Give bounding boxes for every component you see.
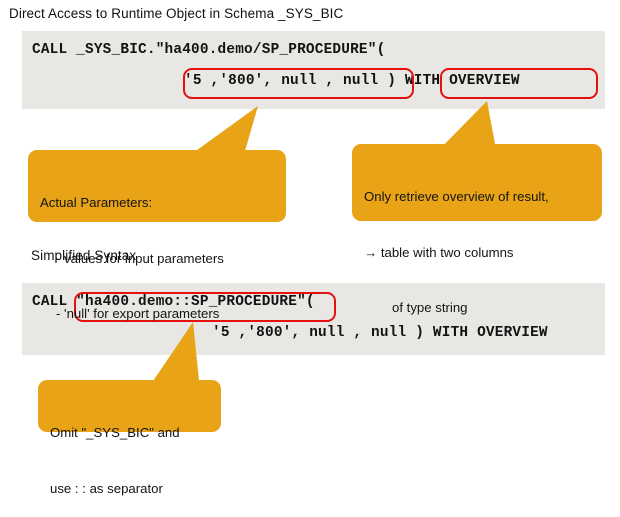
callout-with-overview-line-1: Only retrieve overview of result, bbox=[364, 188, 591, 207]
callout-with-overview-line-2: → table with two columns bbox=[364, 244, 591, 263]
callout-with-overview: Only retrieve overview of result, → tabl… bbox=[352, 144, 602, 221]
code-line-call-statement: CALL _SYS_BIC."ha400.demo/SP_PROCEDURE"( bbox=[32, 42, 385, 58]
callout-actual-parameters-line-2: - values for input parameters bbox=[40, 250, 275, 269]
callout-omit-sys-bic-line-2: use : : as separator bbox=[50, 480, 210, 499]
code-block-full-syntax: CALL _SYS_BIC."ha400.demo/SP_PROCEDURE"(… bbox=[22, 31, 605, 109]
callout-with-overview-line-3: of type string bbox=[364, 299, 591, 318]
page-title: Direct Access to Runtime Object in Schem… bbox=[9, 6, 343, 22]
callout-actual-parameters: Actual Parameters: - values for input pa… bbox=[28, 150, 286, 222]
callout-omit-sys-bic-line-1: Omit "_SYS_BIC" and bbox=[50, 424, 210, 443]
callout-actual-parameters-line-1: Actual Parameters: bbox=[40, 194, 275, 213]
callout-actual-parameters-line-3: - 'null' for export parameters bbox=[40, 305, 275, 324]
code-line-parameters: '5 ,'800', null , null ) WITH OVERVIEW bbox=[184, 73, 520, 89]
callout-omit-sys-bic: Omit "_SYS_BIC" and use : : as separator bbox=[38, 380, 221, 432]
